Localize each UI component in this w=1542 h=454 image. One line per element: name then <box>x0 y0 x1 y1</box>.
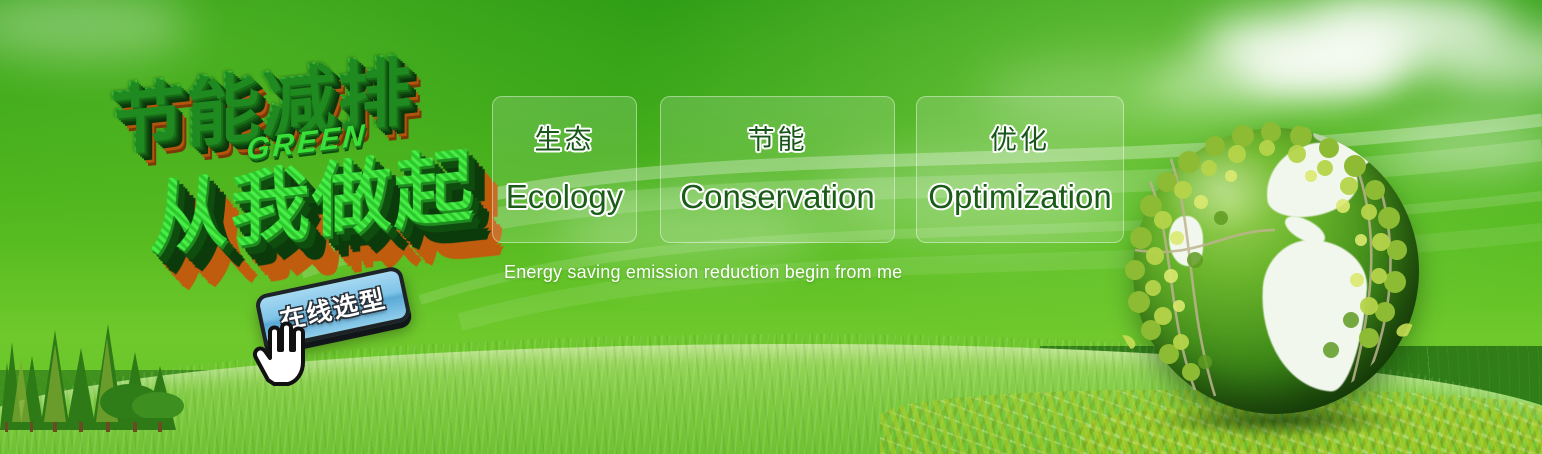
tagline-text: Energy saving emission reduction begin f… <box>504 262 902 283</box>
feature-card-en-label: Optimization <box>928 180 1111 213</box>
feature-card-cn-label: 节能 <box>748 127 808 154</box>
feature-card-conservation[interactable]: 节能 Conservation <box>660 96 895 243</box>
hand-pointer-icon <box>246 318 310 388</box>
globe-highlight <box>1161 144 1281 234</box>
feature-card-cn-label: 生态 <box>535 127 595 154</box>
continent-south-america <box>1256 237 1370 394</box>
eco-promo-banner: 节能减排 GREEN 从我做起 在线选型 生态 Ecology 节能 Conse… <box>0 0 1542 454</box>
globe-sphere <box>1133 128 1419 414</box>
feature-card-en-label: Ecology <box>506 180 623 213</box>
feature-card-en-label: Conservation <box>680 180 874 213</box>
feature-card-cn-label: 优化 <box>990 127 1050 154</box>
feature-card-optimization[interactable]: 优化 Optimization <box>916 96 1124 243</box>
headline-3d-art: 节能减排 GREEN 从我做起 <box>96 34 496 284</box>
leafy-earth-globe <box>1115 120 1435 430</box>
feature-card-ecology[interactable]: 生态 Ecology <box>492 96 637 243</box>
shrub-icon <box>100 368 190 418</box>
